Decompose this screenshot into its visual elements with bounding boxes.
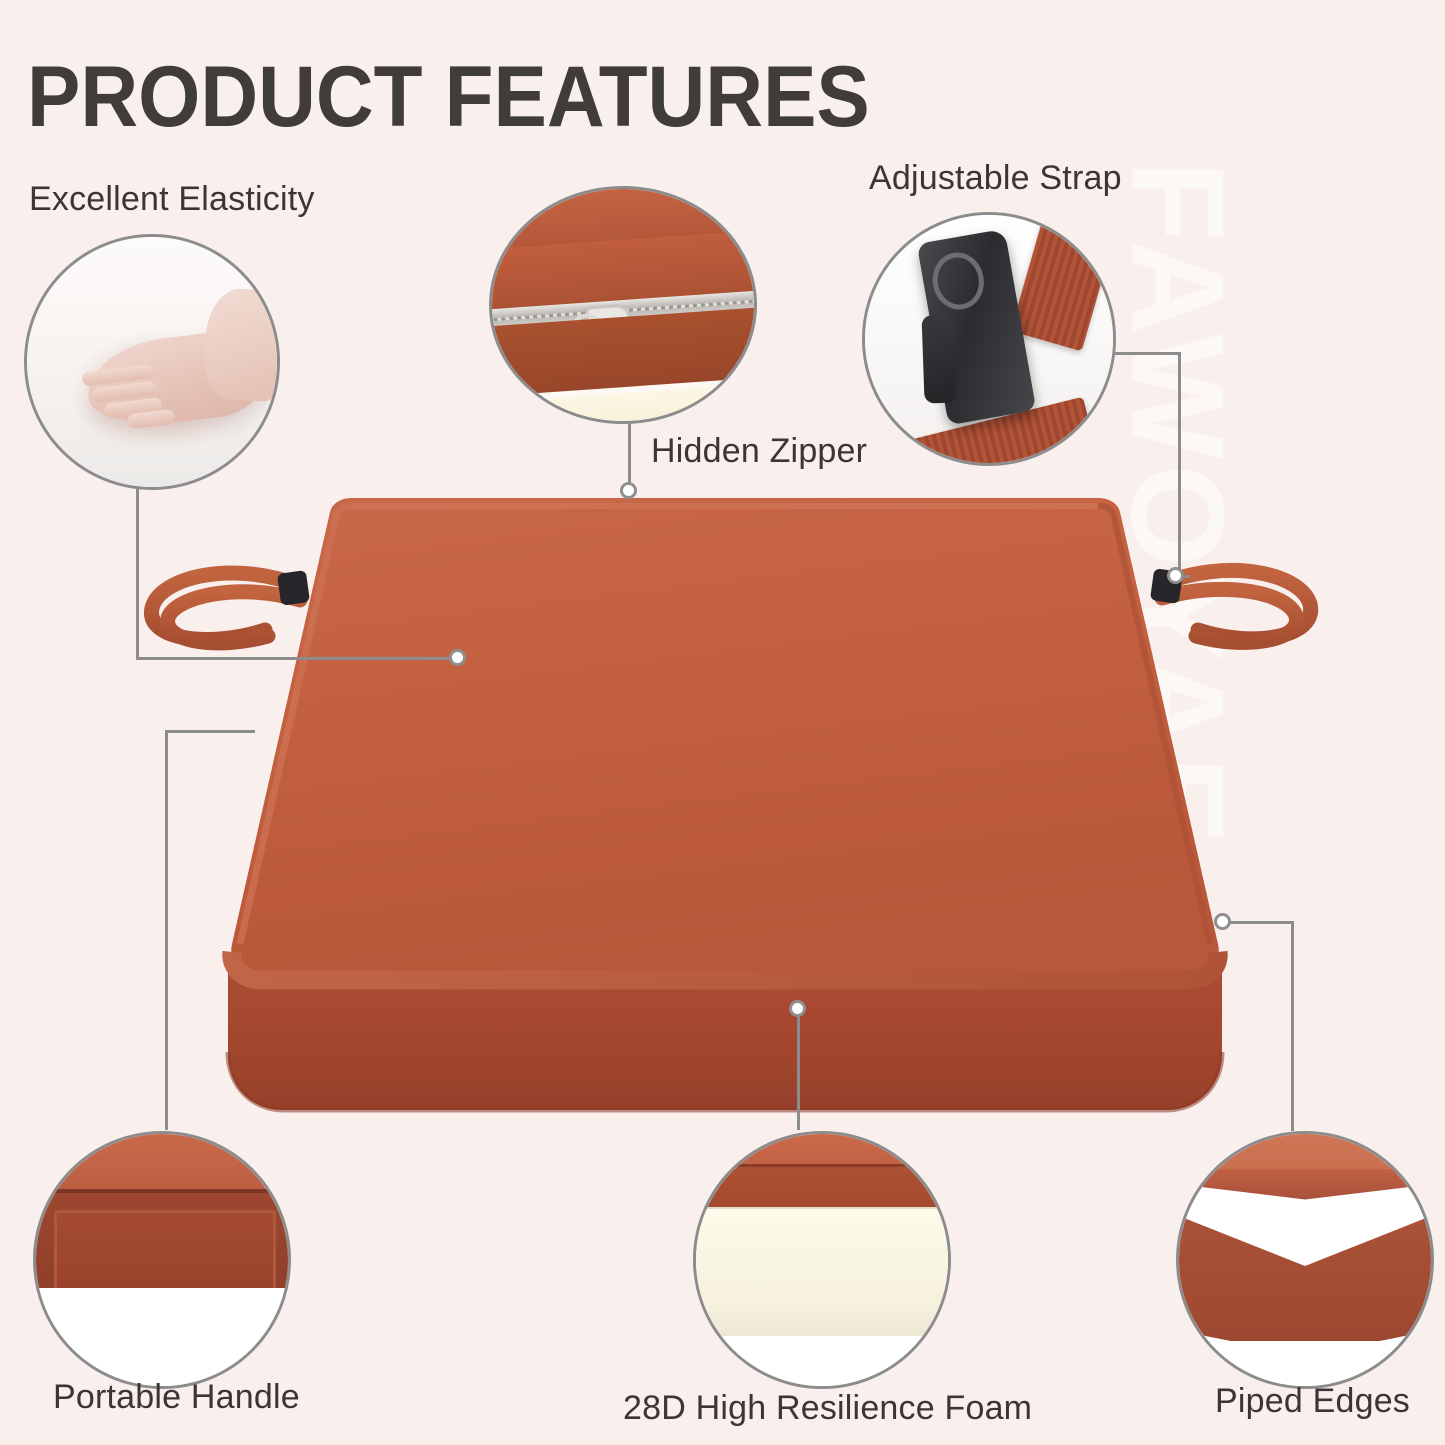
callout-dot-piped[interactable] (1214, 913, 1231, 930)
page-title: PRODUCT FEATURES (27, 48, 870, 147)
cushion-top-face (231, 498, 1219, 976)
feature-image-hidden-zipper[interactable] (489, 186, 757, 424)
feature-image-excellent-elasticity[interactable] (24, 234, 280, 490)
callout-dot-strap[interactable] (1167, 567, 1184, 584)
leader-line-handle-vertical (165, 730, 168, 1130)
feature-image-portable-handle[interactable] (33, 1131, 291, 1389)
cushion-side-panel (228, 970, 1222, 1110)
leader-line-piped-horizontal (1222, 921, 1294, 924)
leader-line-piped-vertical (1291, 921, 1294, 1131)
cushion-edge-piping (232, 952, 1218, 980)
callout-dot-zipper[interactable] (620, 482, 637, 499)
leader-line-strap-vertical (1178, 352, 1181, 577)
infographic-canvas: FAWOYAE PRODUCT FEATURES (0, 0, 1445, 1445)
hand-pressing-foam-icon (27, 237, 277, 487)
buckle-strap-icon (865, 215, 1113, 463)
leader-line-strap-horizontal-top (1108, 352, 1181, 355)
leader-line-elasticity-horizontal (136, 657, 456, 660)
handle-strip-icon (36, 1134, 288, 1386)
callout-dot-foam[interactable] (789, 1000, 806, 1017)
feature-label-adjustable-strap: Adjustable Strap (869, 159, 1122, 198)
feature-label-excellent-elasticity: Excellent Elasticity (29, 180, 315, 219)
feature-image-high-resilience-foam[interactable] (693, 1131, 951, 1389)
foam-layer-icon (696, 1134, 948, 1386)
feature-image-piped-edges[interactable] (1176, 1131, 1434, 1389)
leader-line-foam-vertical (797, 1012, 800, 1130)
callout-dot-elasticity[interactable] (449, 649, 466, 666)
feature-label-portable-handle: Portable Handle (53, 1378, 300, 1417)
leader-line-elasticity-vertical (136, 470, 139, 660)
left-handle-loop (151, 570, 310, 643)
cushion-top-piping (240, 506, 352, 944)
feature-image-adjustable-strap[interactable] (862, 212, 1116, 466)
feature-label-piped-edges: Piped Edges (1215, 1382, 1410, 1421)
piped-corner-icon (1179, 1134, 1431, 1386)
feature-label-high-resilience-foam: 28D High Resilience Foam (623, 1389, 1032, 1428)
zipper-icon (492, 189, 754, 421)
feature-label-hidden-zipper: Hidden Zipper (651, 432, 867, 471)
leader-line-handle-horizontal (165, 730, 255, 733)
